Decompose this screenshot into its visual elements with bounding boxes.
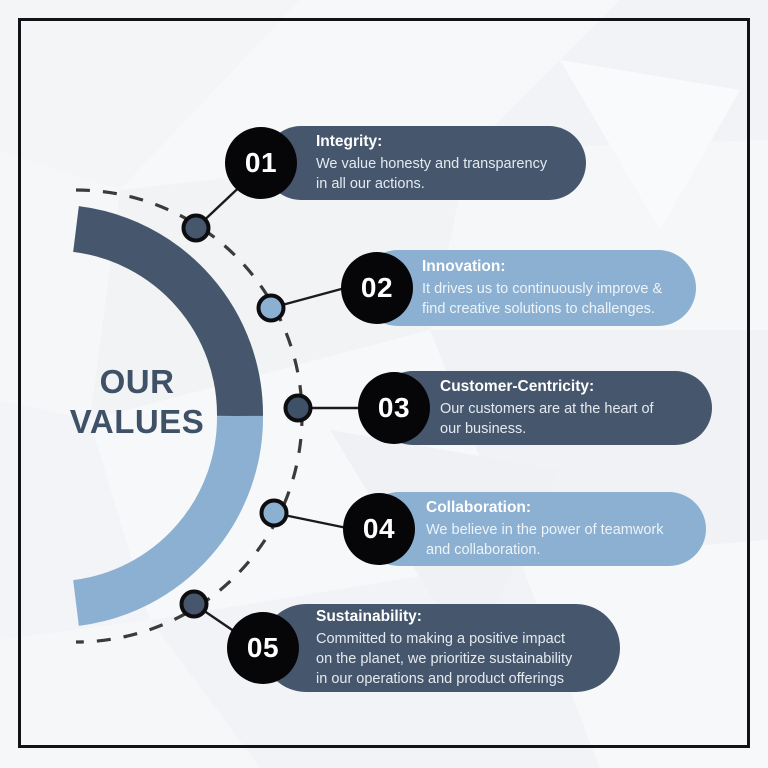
value-number-2: 02 [361,272,393,304]
node-dot-2 [259,296,284,321]
value-number-3: 03 [378,392,410,424]
value-number-circle-5[interactable]: 05 [227,612,299,684]
value-number-circle-1[interactable]: 01 [225,127,297,199]
value-pill-1[interactable]: Integrity: We value honesty and transpar… [264,126,586,200]
arc-lower-light [76,416,240,603]
title-line-2: VALUES [28,402,246,442]
node-dot-5 [182,592,207,617]
node-dot-4 [262,501,287,526]
value-description-1: We value honesty and transparency in all… [316,154,560,194]
value-number-circle-3[interactable]: 03 [358,372,430,444]
value-description-5: Committed to making a positive impact on… [316,629,600,689]
value-pill-5[interactable]: Sustainability: Committed to making a po… [262,604,620,692]
title-line-1: OUR [28,362,246,402]
poster-title: OUR VALUES [28,362,246,443]
value-number-5: 05 [247,632,279,664]
value-number-circle-2[interactable]: 02 [341,252,413,324]
node-dot-1 [184,216,209,241]
value-description-2: It drives us to continuously improve & f… [422,279,674,319]
value-number-circle-4[interactable]: 04 [343,493,415,565]
value-title-3: Customer-Centricity: [440,377,688,396]
value-number-4: 04 [363,513,395,545]
value-title-2: Innovation: [422,257,674,276]
value-title-5: Sustainability: [316,607,600,626]
value-number-1: 01 [245,147,277,179]
value-title-1: Integrity: [316,132,560,151]
value-description-3: Our customers are at the heart of our bu… [440,399,688,439]
value-title-4: Collaboration: [426,498,684,517]
value-description-4: We believe in the power of teamwork and … [426,520,684,560]
infographic-poster: OUR VALUES Integrity: We value honesty a… [0,0,768,768]
node-dot-3 [286,396,311,421]
